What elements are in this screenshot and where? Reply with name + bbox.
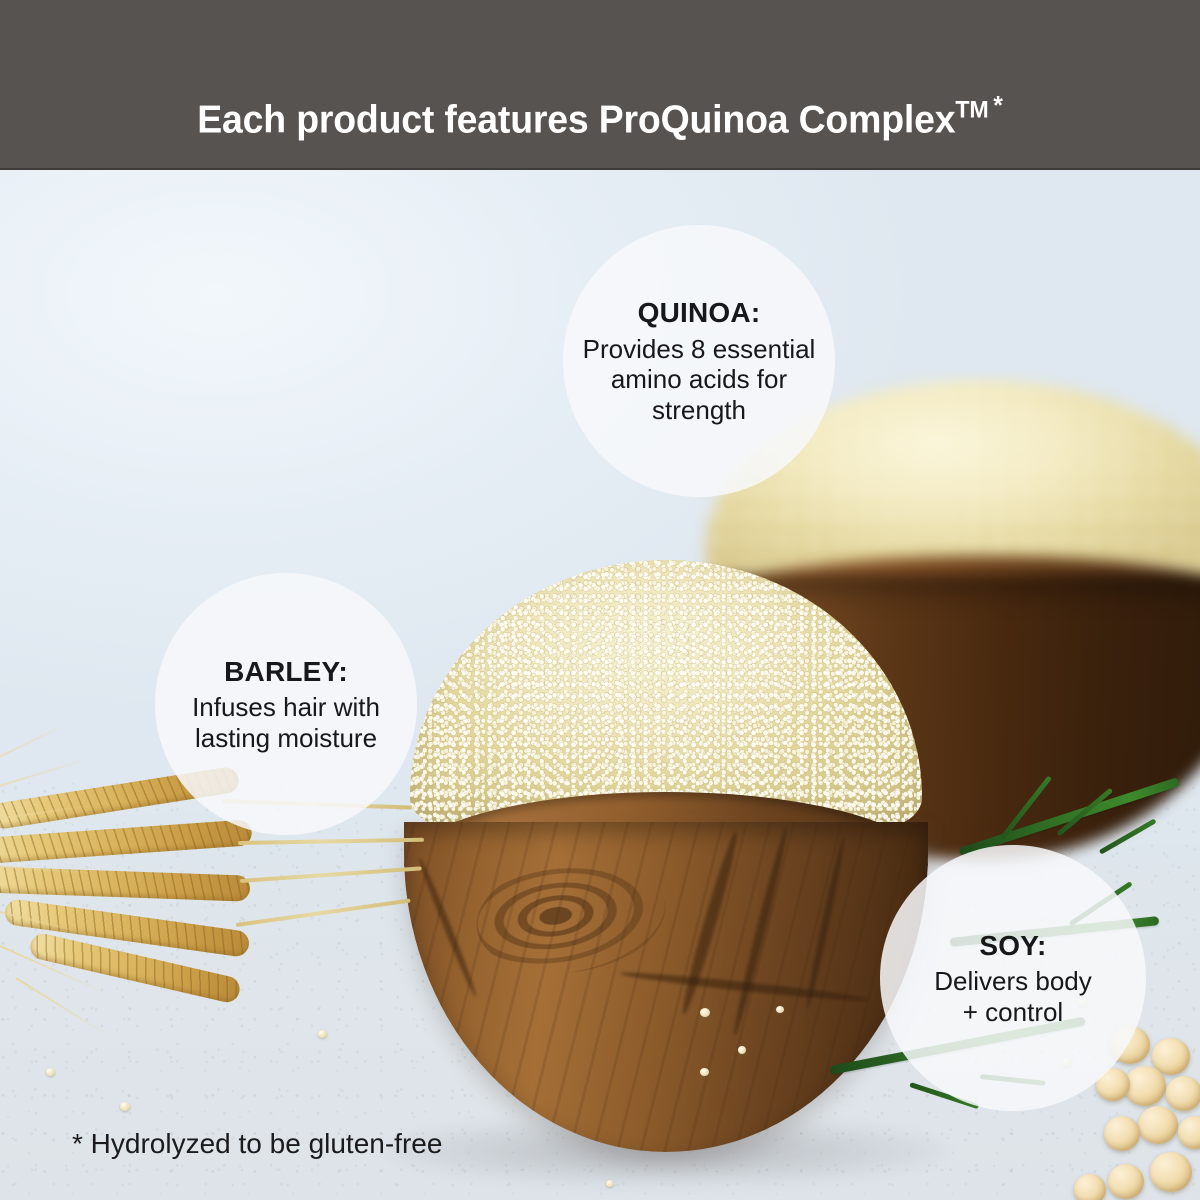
wood-knot [469,847,673,984]
footnote-text: * Hydrolyzed to be gluten-free [72,1128,442,1160]
quinoa-seed [46,1068,55,1076]
soybean [1104,1116,1140,1151]
callout-quinoa-body: Provides 8 essential amino acids for str… [583,334,816,426]
callout-barley-line-2: lasting moisture [192,723,380,754]
soybean [1124,1066,1166,1106]
callout-soy-body: Delivers body + control [934,966,1092,1027]
soybean [1074,1174,1106,1200]
wheat-ear [0,819,253,864]
callout-quinoa-line-3: strength [583,395,816,426]
page-title-text: Each product features ProQuinoa Complex [197,99,955,142]
wood-grain-streak [730,826,791,1037]
trademark-symbol: TM [955,97,988,124]
wheat-stem [240,866,422,882]
callout-barley-title: BARLEY: [224,655,348,688]
wheat-awn [16,977,112,1038]
callout-barley: BARLEY: Infuses hair with lasting moistu… [155,573,417,835]
page-title: Each product features ProQuinoa ComplexT… [24,92,1176,143]
callout-soy-line-2: + control [934,997,1092,1028]
quinoa-seed [318,1030,327,1038]
wood-grain-streak [804,837,847,1010]
front-bowl-quinoa-mound [410,560,922,830]
front-bowl [396,560,936,1170]
callout-barley-body: Infuses hair with lasting moisture [192,692,380,753]
wheat-stem [236,899,411,927]
quinoa-seed [120,1102,130,1111]
wheat-ear [0,866,250,901]
quinoa-seed [700,1068,709,1076]
soybean [1150,1152,1192,1192]
quinoa-seed [606,1180,614,1187]
wheat-stem [238,838,424,845]
soybean [1138,1106,1178,1144]
footnote-asterisk: * [993,92,1002,120]
quinoa-seed [738,1046,746,1054]
callout-quinoa-title: QUINOA: [638,296,761,329]
callout-soy: SOY: Delivers body + control [880,845,1146,1111]
quinoa-seed [776,1006,784,1013]
callout-soy-title: SOY: [979,929,1046,962]
soybean [1108,1164,1144,1199]
header-bar: Each product features ProQuinoa ComplexT… [0,0,1200,170]
soybean [1166,1076,1200,1111]
front-bowl-body [404,822,928,1152]
callout-quinoa: QUINOA: Provides 8 essential amino acids… [563,225,835,497]
callout-soy-line-1: Delivers body [934,966,1092,997]
callout-quinoa-line-1: Provides 8 essential [583,334,816,365]
callout-barley-line-1: Infuses hair with [192,692,380,723]
promo-image: Each product features ProQuinoa ComplexT… [0,0,1200,1200]
callout-quinoa-line-2: amino acids for [583,364,816,395]
quinoa-seed [700,1008,710,1017]
